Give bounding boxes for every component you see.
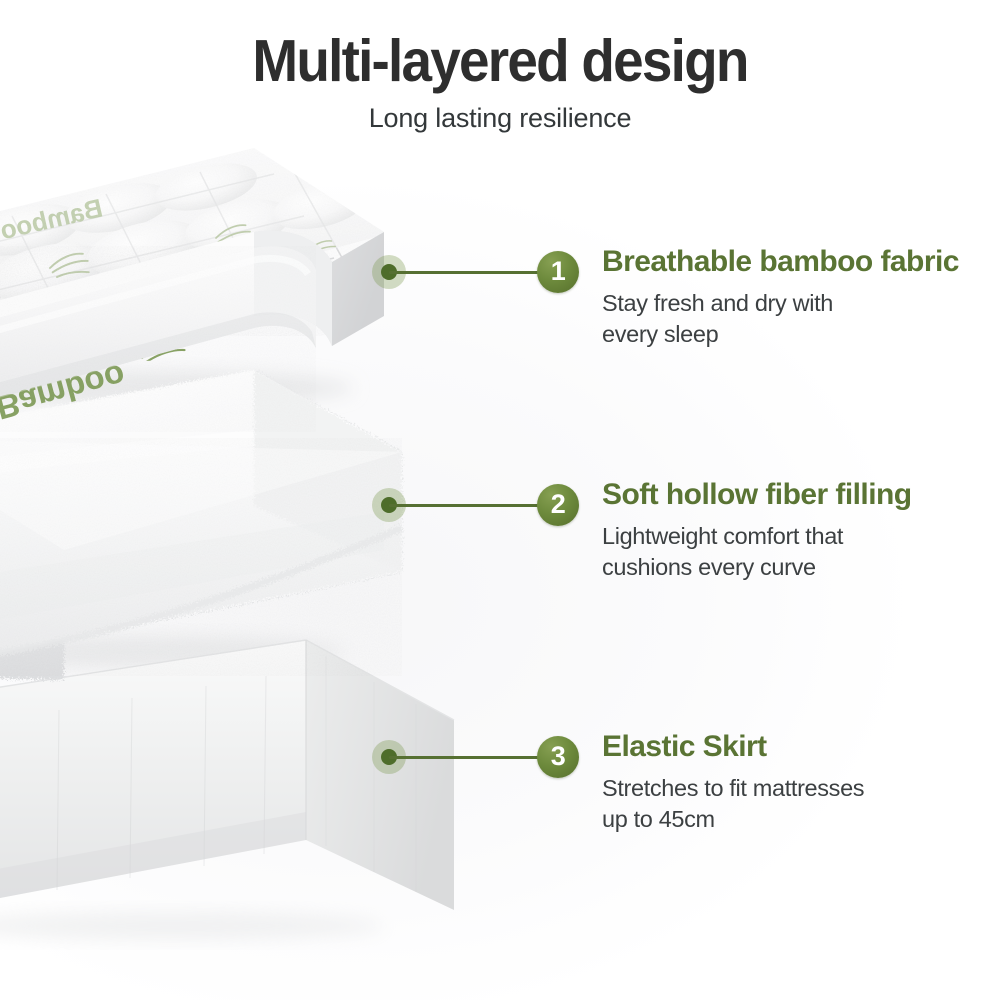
feature-body-line: Stay fresh and dry with (602, 288, 1000, 319)
feature-body-line: every sleep (602, 319, 1000, 350)
feature-body-line: cushions every curve (602, 552, 1000, 583)
elastic-skirt-layer (0, 640, 454, 920)
callout-badge-2: 2 (537, 484, 579, 526)
feature-body: Stay fresh and dry with every sleep (602, 288, 1000, 351)
callout-text-3: Elastic Skirt Stretches to fit mattresse… (602, 730, 1000, 835)
feature-body: Stretches to fit mattresses up to 45cm (602, 773, 1000, 836)
page-subtitle: Long lasting resilience (0, 104, 1000, 134)
badge-number: 2 (551, 491, 566, 518)
callout-badge-3: 3 (537, 736, 579, 778)
leader-line-2 (389, 504, 558, 507)
feature-heading: Soft hollow fiber filling (602, 478, 1000, 512)
infographic-canvas: Multi-layered design Long lasting resili… (0, 0, 1000, 1000)
feature-heading: Elastic Skirt (602, 730, 1000, 764)
feature-body-line: Stretches to fit mattresses (602, 773, 1000, 804)
feature-heading: Breathable bamboo fabric (602, 245, 1000, 279)
header-block: Multi-layered design Long lasting resili… (0, 32, 1000, 134)
page-title: Multi-layered design (35, 32, 965, 91)
callout-text-2: Soft hollow fiber filling Lightweight co… (602, 478, 1000, 583)
product-layer-stack-image: Bamboo Bamboo (0, 120, 514, 950)
badge-number: 3 (551, 743, 566, 770)
callout-text-1: Breathable bamboo fabric Stay fresh and … (602, 245, 1000, 350)
leader-line-1 (389, 271, 558, 274)
leader-line-3 (389, 756, 558, 759)
feature-body-line: Lightweight comfort that (602, 521, 1000, 552)
feature-body: Lightweight comfort that cushions every … (602, 521, 1000, 584)
callout-badge-1: 1 (537, 251, 579, 293)
feature-body-line: up to 45cm (602, 804, 1000, 835)
badge-number: 1 (551, 258, 566, 285)
hollow-fiber-fill-layer (0, 370, 402, 680)
